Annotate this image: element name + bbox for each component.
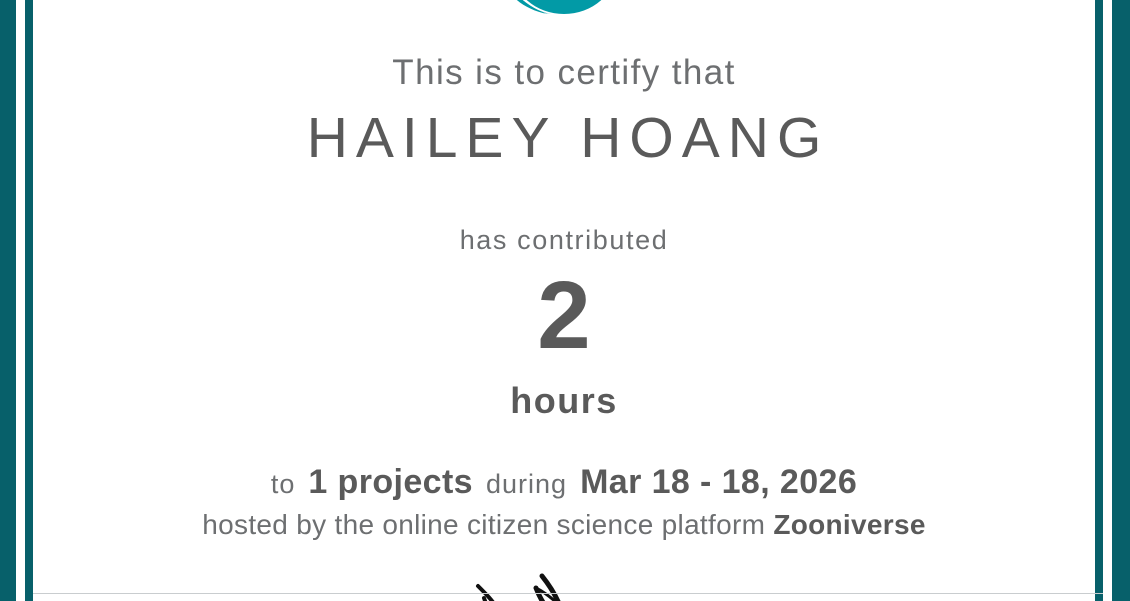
border-stripe-left-inner <box>25 0 33 601</box>
contribution-amount: 2 <box>33 268 1095 364</box>
signature-icon <box>33 568 1095 601</box>
detail-during-label: during <box>486 469 567 499</box>
bottom-divider <box>33 593 1103 594</box>
zooniverse-logo-icon <box>33 0 1095 16</box>
hosted-by-line: hosted by the online citizen science pla… <box>33 509 1095 541</box>
border-stripe-right-inner <box>1095 0 1103 601</box>
contribution-detail-line: to1 projectsduringMar 18 - 18, 2026 <box>33 463 1095 502</box>
detail-to-label: to <box>271 469 296 499</box>
detail-projects-value: 1 projects <box>308 463 473 501</box>
contribution-unit: hours <box>33 380 1095 422</box>
recipient-name: HAILEY HOANG <box>33 105 1095 171</box>
certificate-content: This is to certify that HAILEY HOANG has… <box>33 0 1095 601</box>
hosted-by-brand: Zooniverse <box>773 509 925 540</box>
border-stripe-left-outer <box>0 0 16 601</box>
certify-intro-line: This is to certify that <box>33 53 1095 93</box>
contribution-label: has contributed <box>33 225 1095 256</box>
certificate-canvas: This is to certify that HAILEY HOANG has… <box>0 0 1130 601</box>
hosted-by-prefix: hosted by the online citizen science pla… <box>202 509 765 540</box>
detail-date-range: Mar 18 - 18, 2026 <box>580 463 857 501</box>
border-stripe-right-outer <box>1112 0 1130 601</box>
